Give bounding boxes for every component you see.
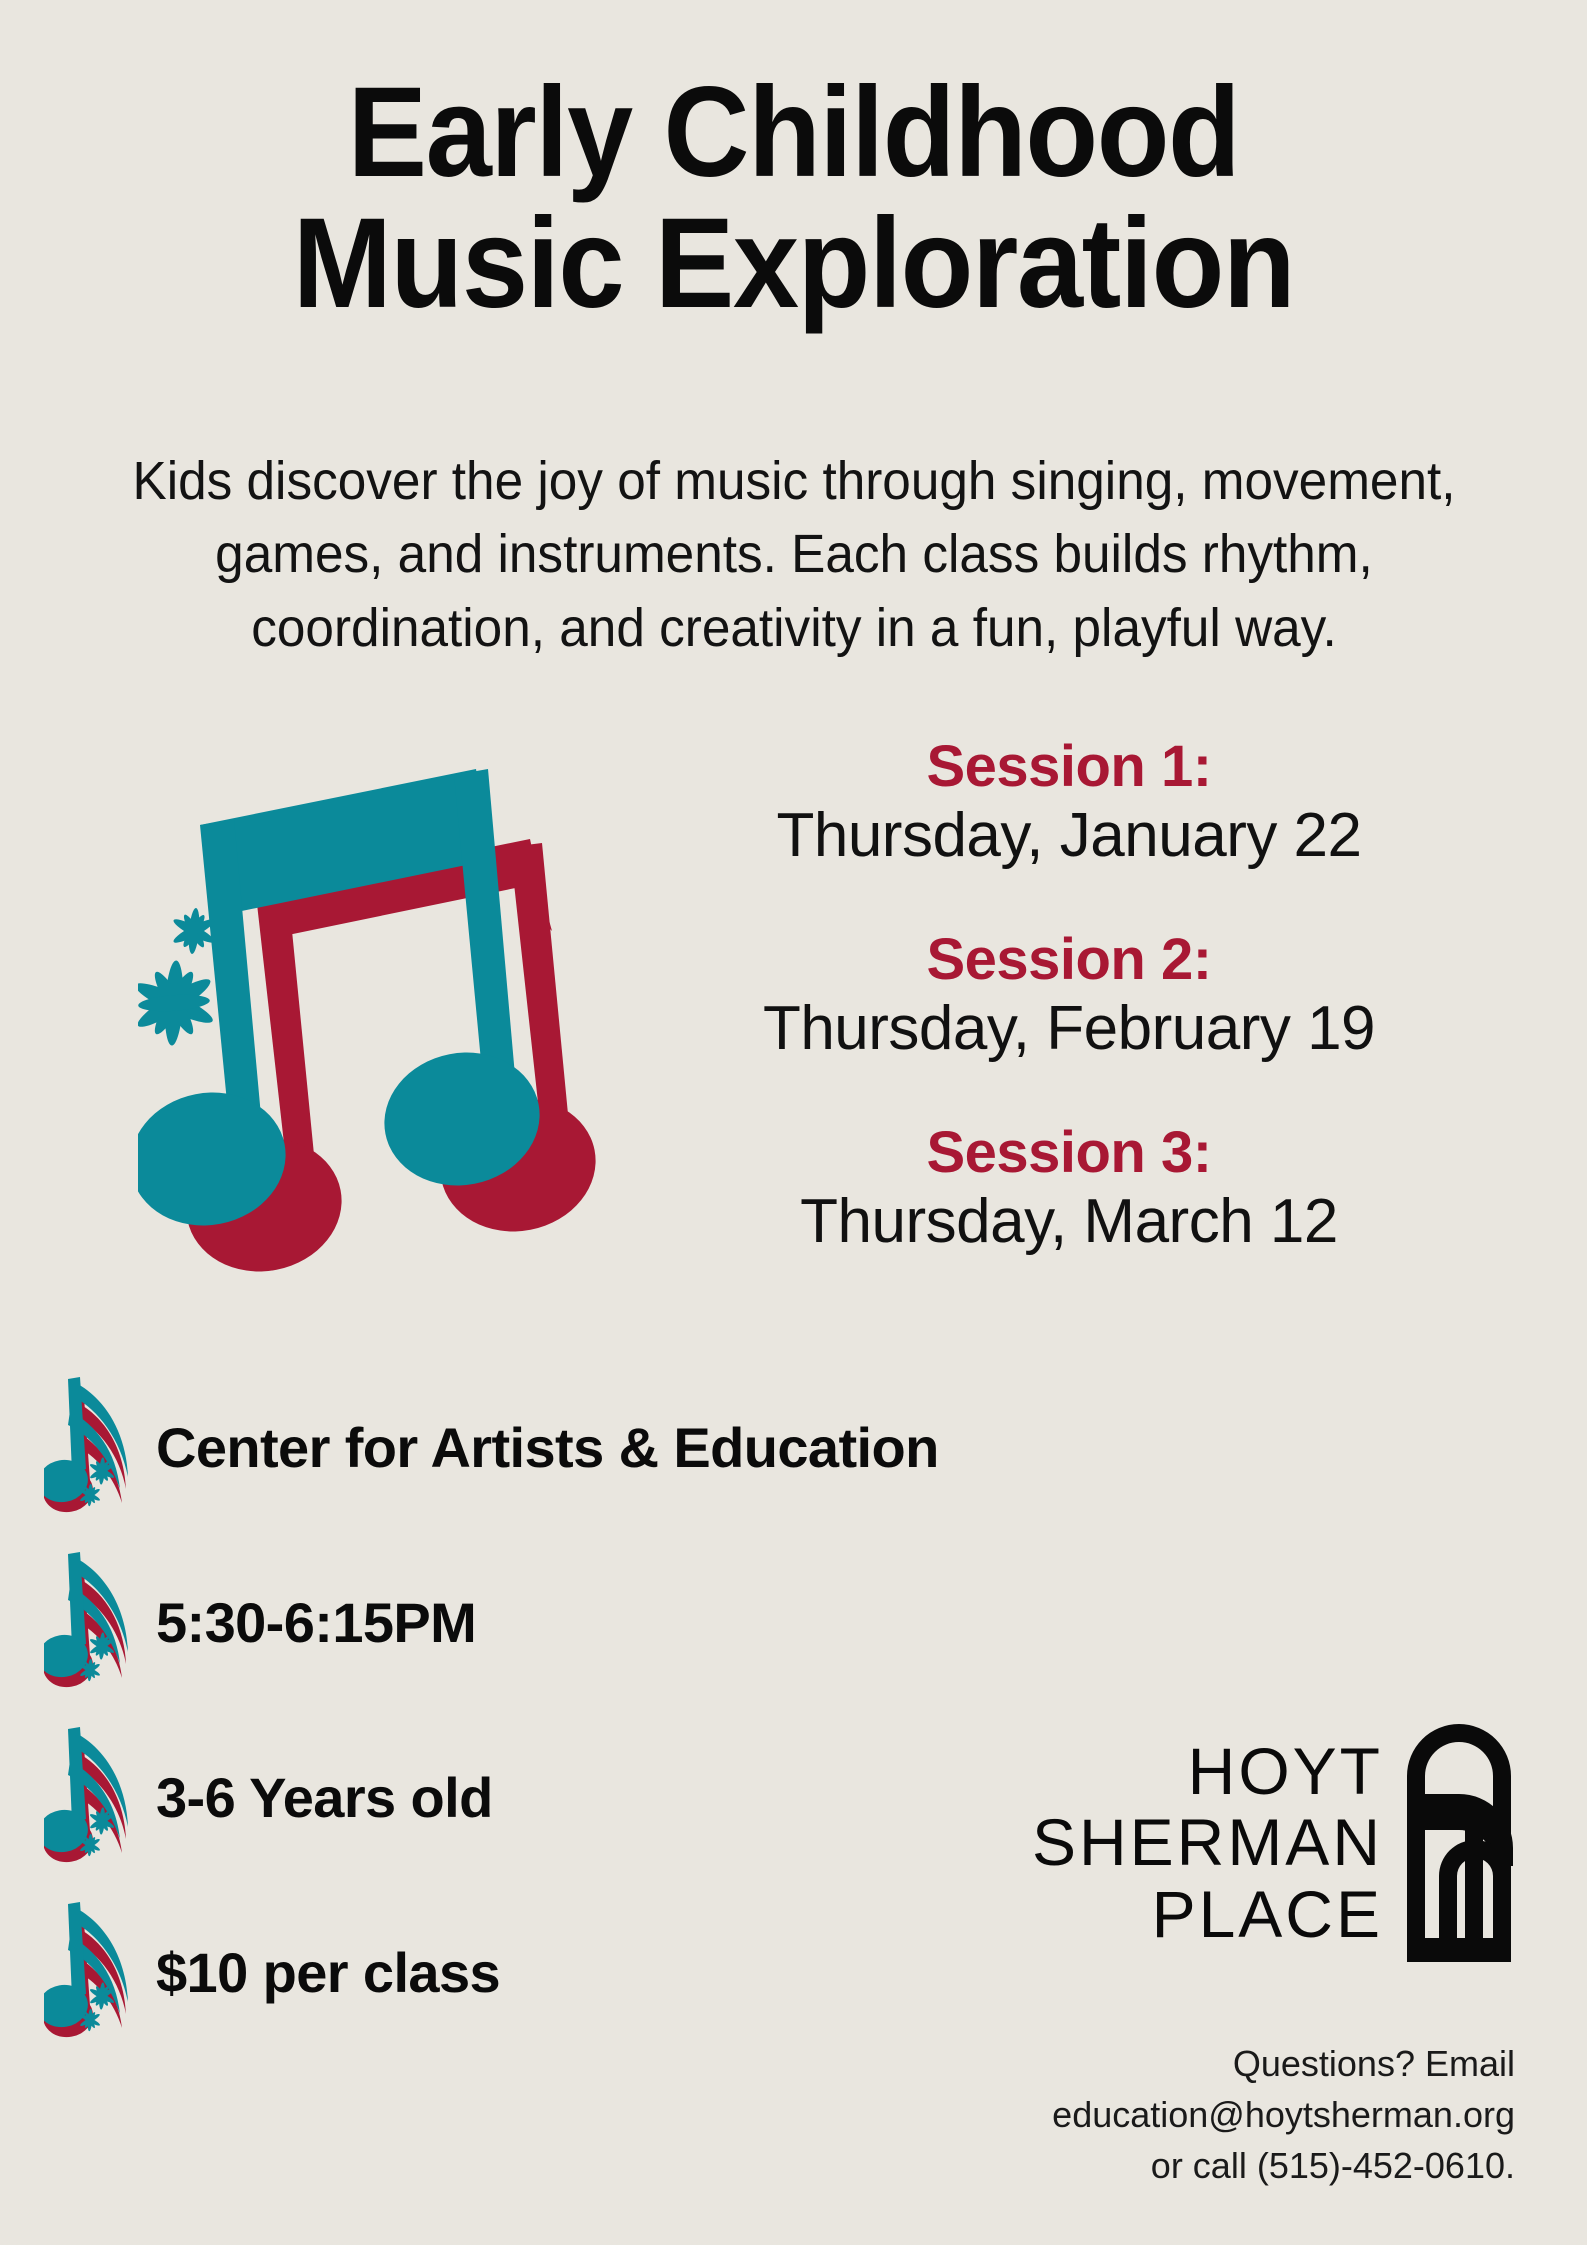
detail-label: 5:30-6:15PM: [156, 1590, 476, 1655]
intro-paragraph: Kids discover the joy of music through s…: [81, 445, 1506, 665]
session-date: Thursday, January 22: [629, 800, 1509, 872]
hoyt-sherman-place-logo: HOYT SHERMAN PLACE: [1032, 1700, 1525, 1962]
intro-line-1: Kids discover the joy of music through s…: [81, 445, 1506, 518]
contact-phone: or call (515)-452-0610.: [895, 2140, 1515, 2191]
session-label: Session 3:: [629, 1121, 1509, 1186]
sessions-list: Session 1: Thursday, January 22 Session …: [629, 735, 1509, 1258]
detail-label: $10 per class: [156, 1940, 500, 2005]
music-note-icon: [44, 1723, 140, 1873]
beamed-music-note-icon: [138, 735, 678, 1275]
title-line-1: Early Childhood: [56, 68, 1532, 199]
music-note-icon: [44, 1548, 140, 1698]
logo-line-1: HOYT: [1032, 1736, 1383, 1807]
details-list: Center for Artists & Education: [44, 1360, 1144, 2060]
page-title: Early Childhood Music Exploration: [0, 68, 1587, 329]
arch-logo-icon: [1393, 1700, 1525, 1962]
contact-info: Questions? Email education@hoytsherman.o…: [895, 2038, 1515, 2191]
intro-line-3: coordination, and creativity in a fun, p…: [81, 592, 1506, 665]
logo-wordmark: HOYT SHERMAN PLACE: [1032, 1700, 1393, 1950]
session-item: Session 3: Thursday, March 12: [629, 1121, 1509, 1258]
detail-label: Center for Artists & Education: [156, 1415, 939, 1480]
session-label: Session 1:: [629, 735, 1509, 800]
music-note-icon: [44, 1898, 140, 2048]
list-item: Center for Artists & Education: [44, 1360, 1144, 1535]
sparkle-icon: [138, 908, 217, 1046]
title-line-2: Music Exploration: [56, 199, 1532, 330]
logo-line-2: SHERMAN: [1032, 1807, 1383, 1878]
poster-root: Early Childhood Music Exploration Kids d…: [0, 0, 1587, 2245]
contact-line-1: Questions? Email: [895, 2038, 1515, 2089]
contact-email: education@hoytsherman.org: [895, 2089, 1515, 2140]
list-item: 5:30-6:15PM: [44, 1535, 1144, 1710]
session-date: Thursday, March 12: [629, 1186, 1509, 1258]
session-label: Session 2:: [629, 928, 1509, 993]
logo-line-3: PLACE: [1032, 1879, 1383, 1950]
list-item: $10 per class: [44, 1885, 1144, 2060]
session-date: Thursday, February 19: [629, 993, 1509, 1065]
detail-label: 3-6 Years old: [156, 1765, 493, 1830]
list-item: 3-6 Years old: [44, 1710, 1144, 1885]
session-item: Session 1: Thursday, January 22: [629, 735, 1509, 872]
intro-line-2: games, and instruments. Each class build…: [81, 518, 1506, 591]
music-note-icon: [44, 1373, 140, 1523]
session-item: Session 2: Thursday, February 19: [629, 928, 1509, 1065]
